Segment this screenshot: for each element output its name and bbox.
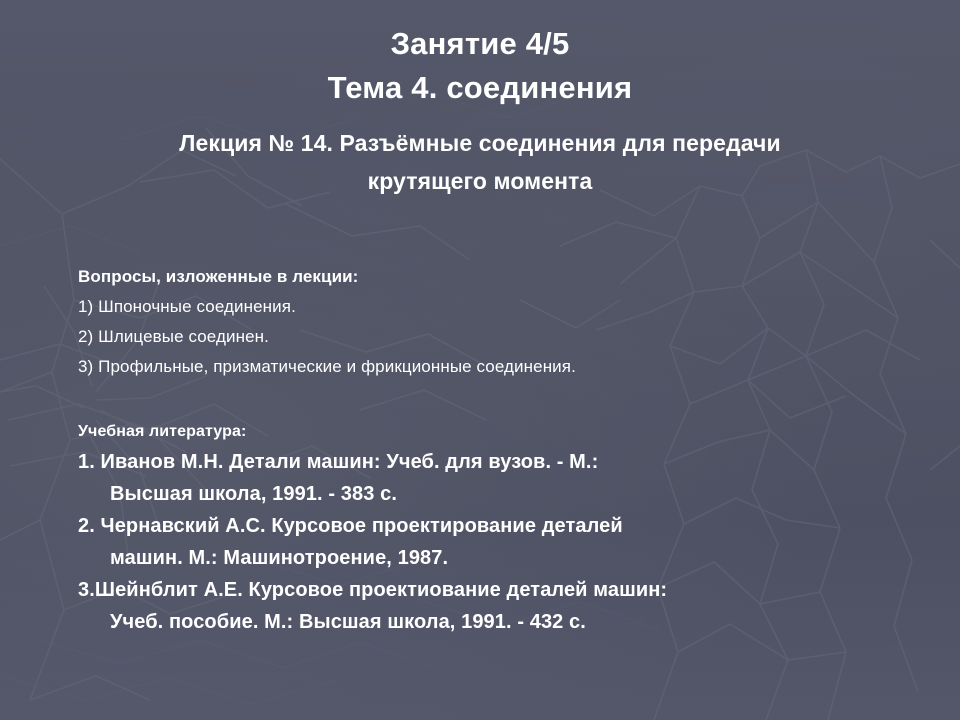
literature-heading: Учебная литература: — [78, 418, 948, 446]
slide-subtitle: Лекция № 14. Разъёмные соединения для пе… — [100, 124, 860, 200]
literature-reference: 3.Шейнблит А.Е. Курсовое проектиование д… — [78, 574, 948, 638]
literature-reference: 1. Иванов М.Н. Детали машин: Учеб. для в… — [78, 446, 948, 510]
reference-line-continued: Учеб. пособие. М.: Высшая школа, 1991. -… — [78, 606, 948, 638]
reference-line-primary: 2. Чернавский А.С. Курсовое проектирован… — [78, 510, 948, 542]
subtitle-line-2: крутящего момента — [100, 162, 860, 200]
questions-heading: Вопросы, изложенные в лекции: — [78, 262, 878, 292]
questions-section: Вопросы, изложенные в лекции: 1) Шпоночн… — [78, 262, 878, 382]
slide-content: Занятие 4/5 Тема 4. соединения Лекция № … — [0, 0, 960, 720]
question-item: 3) Профильные, призматические и фрикцион… — [78, 352, 878, 382]
literature-section: Учебная литература: 1. Иванов М.Н. Детал… — [78, 418, 948, 638]
reference-line-continued: машин. М.: Машинотроение, 1987. — [78, 542, 948, 574]
slide-title: Занятие 4/5 Тема 4. соединения — [0, 22, 960, 110]
reference-line-primary: 3.Шейнблит А.Е. Курсовое проектиование д… — [78, 574, 948, 606]
question-item: 2) Шлицевые соединен. — [78, 322, 878, 352]
reference-line-continued: Высшая школа, 1991. - 383 с. — [78, 478, 948, 510]
title-line-1: Занятие 4/5 — [0, 22, 960, 66]
literature-reference: 2. Чернавский А.С. Курсовое проектирован… — [78, 510, 948, 574]
presentation-slide: Занятие 4/5 Тема 4. соединения Лекция № … — [0, 0, 960, 720]
title-line-2: Тема 4. соединения — [0, 66, 960, 110]
subtitle-line-1: Лекция № 14. Разъёмные соединения для пе… — [100, 124, 860, 162]
reference-line-primary: 1. Иванов М.Н. Детали машин: Учеб. для в… — [78, 446, 948, 478]
question-item: 1) Шпоночные соединения. — [78, 292, 878, 322]
